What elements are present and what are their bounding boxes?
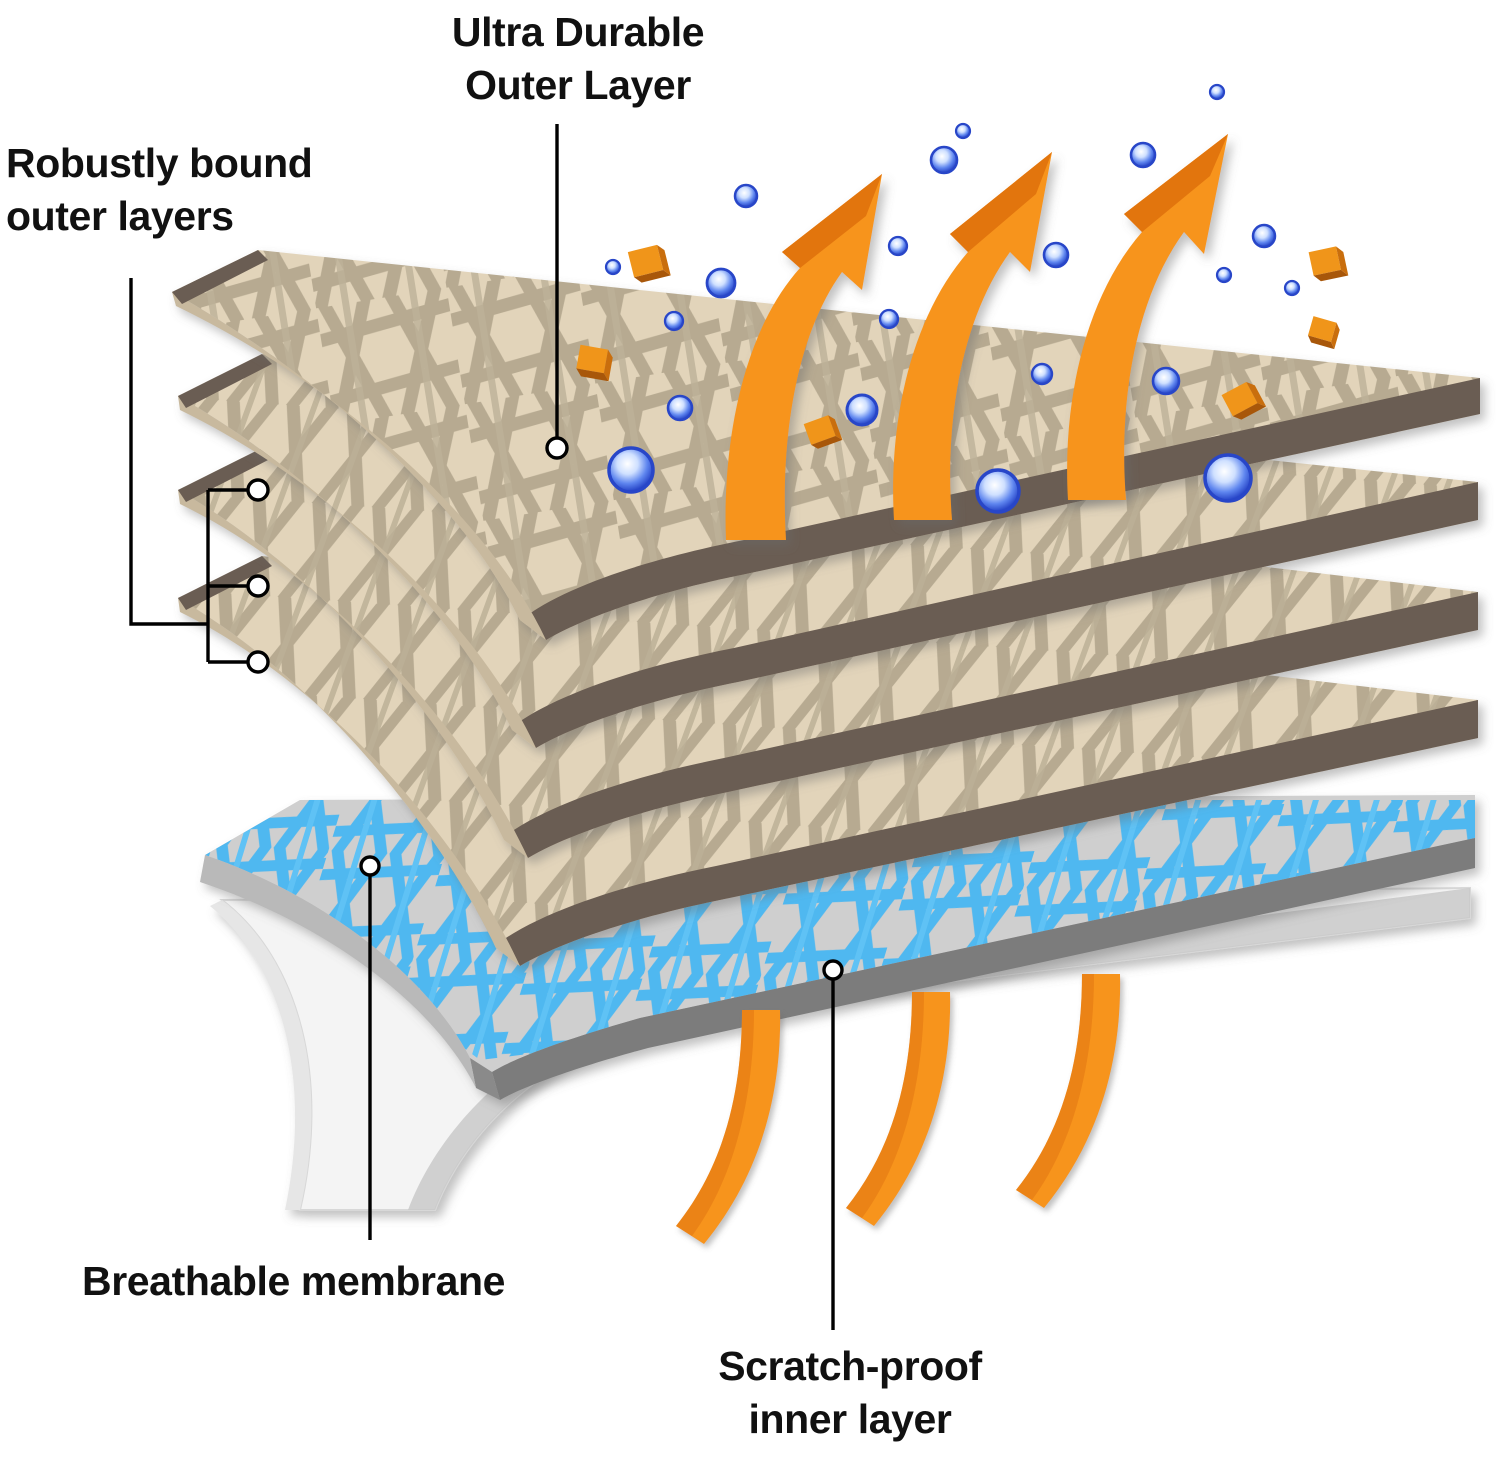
callout-dot-inner-layer: [824, 961, 842, 979]
label-ultra-durable-outer-layer: Ultra Durable Outer Layer: [393, 6, 763, 113]
label-scratch-proof-inner-layer: Scratch-proof inner layer: [655, 1340, 1045, 1447]
label-breathable-membrane: Breathable membrane: [82, 1255, 702, 1308]
airflow-arrows-down: [676, 974, 1120, 1244]
callout-dot-bond-2: [248, 576, 268, 596]
label-robustly-bound-outer-layers: Robustly bound outer layers: [6, 137, 436, 244]
callout-dot-bond-3: [248, 652, 268, 672]
callout-dot-outer-layer: [547, 438, 567, 458]
callout-dot-membrane: [361, 857, 379, 875]
callout-dot-bond-1: [248, 480, 268, 500]
leader-bound-stem: [131, 278, 208, 624]
layer-structure-diagram: Ultra Durable Outer Layer Robustly bound…: [0, 0, 1499, 1463]
